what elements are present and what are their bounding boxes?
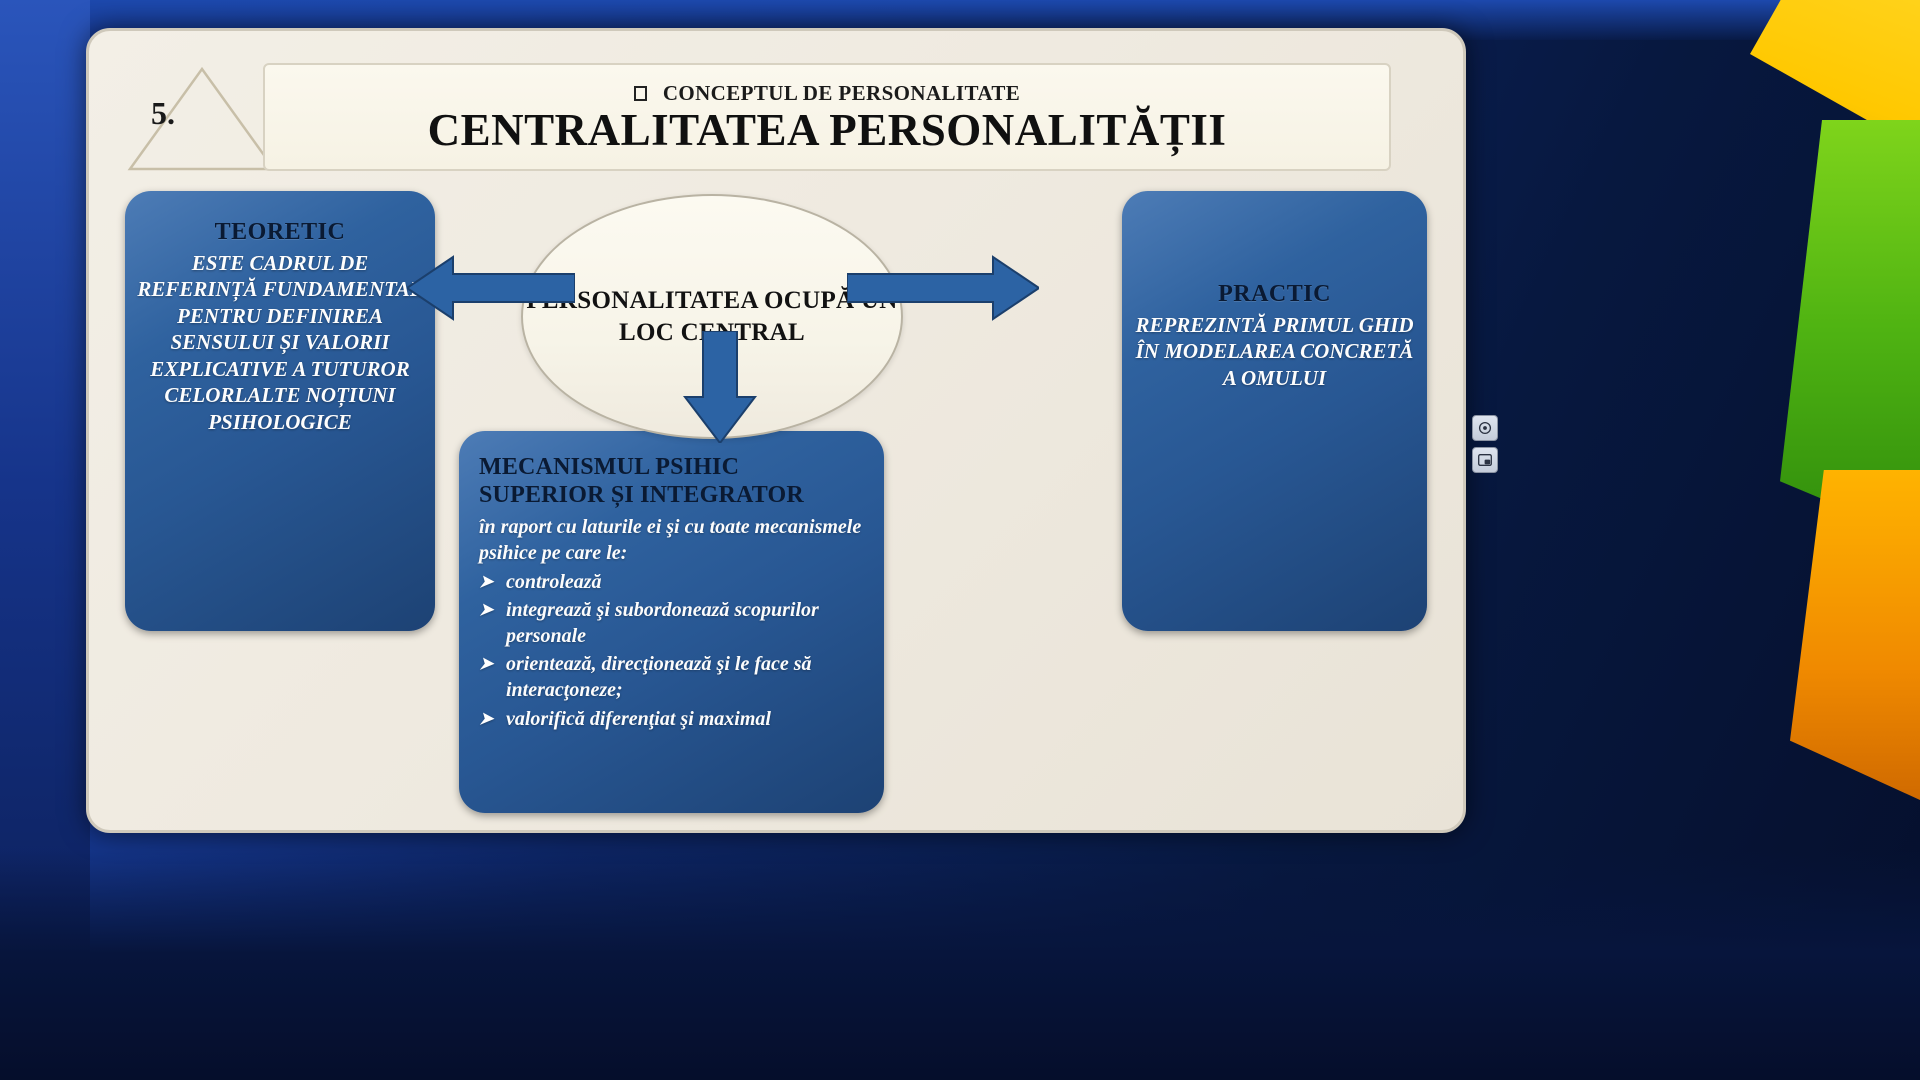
practic-heading: PRACTIC xyxy=(1134,281,1415,308)
arrow-down-icon xyxy=(679,331,761,443)
mecanism-list: ➤ controlează ➤ integrează şi subordonea… xyxy=(479,570,866,733)
picture-in-picture-icon[interactable] xyxy=(1472,447,1498,473)
concept-box-teoretic: TEORETIC ESTE CADRUL DE REFERINȚĂ FUNDAM… xyxy=(125,191,435,631)
mecanism-intro: în raport cu laturile ei şi cu toate mec… xyxy=(479,514,866,566)
concept-box-practic: PRACTIC REPREZINTĂ PRIMUL GHID ÎN MODELA… xyxy=(1122,191,1427,631)
slide-number: 5. xyxy=(133,95,193,132)
player-side-controls[interactable] xyxy=(1472,415,1498,473)
list-item: ➤ controlează xyxy=(479,570,866,596)
decorative-orange-shape xyxy=(1790,470,1920,800)
slide-subtitle: CONCEPTUL DE PERSONALITATE xyxy=(663,81,1020,106)
mecanism-heading: MECANISMUL PSIHIC SUPERIOR ȘI INTEGRATOR xyxy=(479,453,866,510)
settings-gear-icon[interactable] xyxy=(1472,415,1498,441)
presentation-slide: 5. CONCEPTUL DE PERSONALITATE CENTRALITA… xyxy=(86,28,1466,833)
arrow-left-icon xyxy=(407,253,575,323)
concept-box-mecanism: MECANISMUL PSIHIC SUPERIOR ȘI INTEGRATOR… xyxy=(459,431,884,813)
page-title: CENTRALITATEA PERSONALITĂȚII xyxy=(428,108,1227,154)
chevron-right-bullet-icon: ➤ xyxy=(479,598,495,623)
list-item-label: controlează xyxy=(506,570,602,596)
slide-subtitle-row: CONCEPTUL DE PERSONALITATE xyxy=(634,81,1020,106)
list-item: ➤ valorifică diferenţiat şi maximal xyxy=(479,707,866,733)
chevron-right-bullet-icon: ➤ xyxy=(479,707,495,732)
teoretic-heading: TEORETIC xyxy=(137,219,423,246)
teoretic-body: ESTE CADRUL DE REFERINȚĂ FUNDAMENTAL PEN… xyxy=(137,250,423,435)
chevron-right-bullet-icon: ➤ xyxy=(479,570,495,595)
practic-body: REPREZINTĂ PRIMUL GHID ÎN MODELAREA CONC… xyxy=(1134,312,1415,391)
list-item-label: valorifică diferenţiat şi maximal xyxy=(506,707,771,733)
square-bullet-icon xyxy=(634,86,647,101)
list-item: ➤ integrează şi subordonează scopurilor … xyxy=(479,598,866,649)
chevron-right-bullet-icon: ➤ xyxy=(479,652,495,677)
bottom-gradient-band xyxy=(0,850,1920,1080)
title-plate: CONCEPTUL DE PERSONALITATE CENTRALITATEA… xyxy=(263,63,1391,171)
list-item-label: orientează, direcţionează şi le face să … xyxy=(506,652,866,703)
list-item-label: integrează şi subordonează scopurilor pe… xyxy=(506,598,866,649)
list-item: ➤ orientează, direcţionează şi le face s… xyxy=(479,652,866,703)
arrow-right-icon xyxy=(847,253,1039,323)
